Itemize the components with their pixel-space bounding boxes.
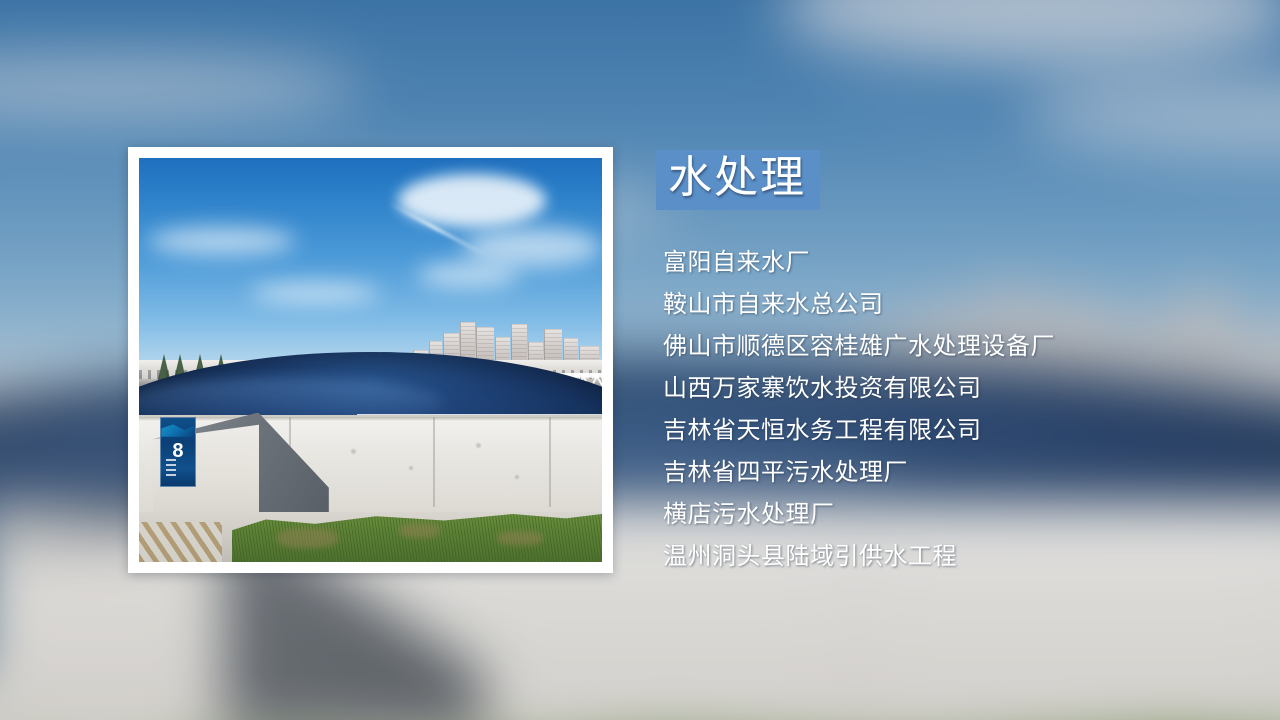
content-panel: 水处理 富阳自来水厂 鞍山市自来水总公司 佛山市顺德区容桂雄广水处理设备厂 山西… <box>656 150 1246 578</box>
list-item: 山西万家寨饮水投资有限公司 <box>656 368 1246 410</box>
cloud-icon <box>417 263 519 287</box>
list-item: 吉林省天恒水务工程有限公司 <box>656 410 1246 452</box>
cloud-icon <box>148 227 296 255</box>
list-item: 横店污水处理厂 <box>656 494 1246 536</box>
list-item: 鞍山市自来水总公司 <box>656 284 1246 326</box>
page-title-box: 水处理 <box>656 150 820 210</box>
photo-frame: 8 <box>128 147 613 573</box>
list-item: 吉林省四平污水处理厂 <box>656 452 1246 494</box>
sign-wave-graphic <box>161 422 194 437</box>
slide-canvas: 8 <box>0 0 1280 720</box>
paver-stones <box>139 522 222 562</box>
photo-image: 8 <box>139 158 602 562</box>
list-item: 富阳自来水厂 <box>656 242 1246 284</box>
list-item: 佛山市顺德区容桂雄广水处理设备厂 <box>656 326 1246 368</box>
photo-scene: 8 <box>139 158 602 562</box>
plant-sign: 8 <box>160 417 195 488</box>
sign-subtext <box>166 459 176 480</box>
client-list: 富阳自来水厂 鞍山市自来水总公司 佛山市顺德区容桂雄广水处理设备厂 山西万家寨饮… <box>656 242 1246 578</box>
cloud-icon <box>463 227 602 267</box>
list-item: 温州洞头县陆域引供水工程 <box>656 536 1246 578</box>
page-title: 水处理 <box>668 155 806 201</box>
